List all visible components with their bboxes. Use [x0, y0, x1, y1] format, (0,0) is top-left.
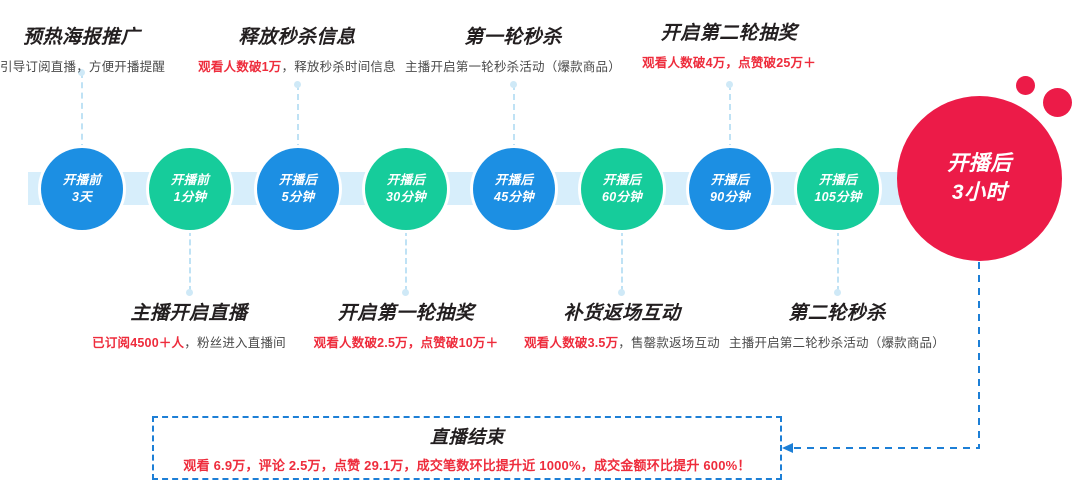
- label-subtitle-highlight: 观看人数破1万: [198, 60, 281, 74]
- label-top-4: 开启第二轮抽奖 观看人数破4万，点赞破25万＋: [611, 18, 847, 71]
- connector-line-top-3: [513, 84, 515, 150]
- connector-dot-top-3: [510, 81, 517, 88]
- label-bottom-1: 主播开启直播 已订阅4500＋人，粉丝进入直播间: [85, 298, 293, 351]
- label-subtitle: 引导订阅直播，方便开播提醒: [0, 56, 163, 75]
- connector-line-top-1: [81, 72, 83, 150]
- label-subtitle-highlight: 已订阅4500＋人: [92, 336, 184, 350]
- summary-box: 直播结束 观看 6.9万，评论 2.5万，点赞 29.1万，成交笔数环比提升近 …: [152, 416, 782, 480]
- timeline-node-3[interactable]: 开播后 5分钟: [257, 148, 339, 230]
- timeline-node-final[interactable]: 开播后 3小时: [897, 96, 1062, 261]
- label-title: 开启第一轮抽奖: [300, 298, 512, 325]
- connector-dot-bottom-2: [402, 289, 409, 296]
- node-line-2: 60分钟: [602, 189, 642, 206]
- label-bottom-3: 补货返场互动 观看人数破3.5万，售罄款返场互动: [516, 298, 728, 351]
- summary-text: 观看 6.9万，评论 2.5万，点赞 29.1万，成交笔数环比提升近 1000%…: [183, 455, 750, 474]
- connector-line-top-4: [729, 84, 731, 150]
- node-line-2: 90分钟: [710, 189, 750, 206]
- node-line-1: 开播后: [819, 172, 857, 189]
- label-subtitle: 主播开启第一轮秒杀活动（爆款商品）: [393, 56, 633, 75]
- node-line-1: 开播后: [603, 172, 641, 189]
- label-title: 第一轮秒杀: [393, 22, 633, 49]
- label-subtitle-highlight: 观看人数破2.5万，点赞破10万＋: [314, 336, 499, 350]
- connector-line-bottom-4: [837, 230, 839, 292]
- connector-dot-bottom-3: [618, 289, 625, 296]
- label-subtitle: 已订阅4500＋人，粉丝进入直播间: [85, 332, 293, 351]
- timeline-node-1[interactable]: 开播前 3天: [41, 148, 123, 230]
- node-line-1: 开播后: [495, 172, 533, 189]
- label-subtitle: 观看人数破1万，释放秒杀时间信息: [182, 56, 412, 75]
- connector-dot-top-2: [294, 81, 301, 88]
- label-subtitle-plain: 主播开启第二轮秒杀活动（爆款商品）: [729, 336, 945, 350]
- label-subtitle-plain: ，释放秒杀时间信息: [282, 60, 396, 74]
- node-line-2: 3天: [72, 189, 92, 206]
- label-bottom-2: 开启第一轮抽奖 观看人数破2.5万，点赞破10万＋: [300, 298, 512, 351]
- timeline-node-8[interactable]: 开播后 105分钟: [797, 148, 879, 230]
- label-subtitle: 观看人数破3.5万，售罄款返场互动: [516, 332, 728, 351]
- node-line-1: 开播后: [947, 150, 1012, 178]
- label-bottom-4: 第二轮秒杀 主播开启第二轮秒杀活动（爆款商品）: [719, 298, 955, 351]
- node-line-1: 开播前: [171, 172, 209, 189]
- timeline-infographic: 预热海报推广 引导订阅直播，方便开播提醒 释放秒杀信息 观看人数破1万，释放秒杀…: [0, 0, 1080, 499]
- label-title: 主播开启直播: [85, 298, 293, 325]
- label-subtitle-highlight: 观看人数破3.5万: [524, 336, 618, 350]
- summary-title: 直播结束: [430, 423, 504, 449]
- label-top-2: 释放秒杀信息 观看人数破1万，释放秒杀时间信息: [182, 22, 412, 75]
- decorative-dot-small-icon: [1016, 76, 1035, 95]
- label-subtitle: 主播开启第二轮秒杀活动（爆款商品）: [719, 332, 955, 351]
- timeline-node-7[interactable]: 开播后 90分钟: [689, 148, 771, 230]
- node-line-2: 5分钟: [282, 189, 315, 206]
- node-line-1: 开播后: [279, 172, 317, 189]
- label-title: 补货返场互动: [516, 298, 728, 325]
- connector-line-bottom-2: [405, 230, 407, 292]
- node-line-1: 开播后: [387, 172, 425, 189]
- label-title: 释放秒杀信息: [182, 22, 412, 49]
- timeline-node-4[interactable]: 开播后 30分钟: [365, 148, 447, 230]
- label-subtitle-plain: ，售罄款返场互动: [618, 336, 720, 350]
- label-title: 第二轮秒杀: [719, 298, 955, 325]
- node-line-1: 开播前: [63, 172, 101, 189]
- node-line-2: 3小时: [952, 179, 1007, 207]
- label-top-1: 预热海报推广 引导订阅直播，方便开播提醒: [0, 22, 163, 75]
- connector-line-bottom-1: [189, 230, 191, 292]
- connector-dot-bottom-4: [834, 289, 841, 296]
- connector-dot-top-4: [726, 81, 733, 88]
- label-subtitle-plain: ，粉丝进入直播间: [184, 336, 286, 350]
- node-line-2: 45分钟: [494, 189, 534, 206]
- label-subtitle-plain: 主播开启第一轮秒杀活动（爆款商品）: [405, 60, 621, 74]
- label-subtitle-plain: 引导订阅直播，方便开播提醒: [0, 60, 165, 74]
- connector-line-bottom-3: [621, 230, 623, 292]
- node-line-1: 开播后: [711, 172, 749, 189]
- label-subtitle-highlight: 观看人数破4万，点赞破25万＋: [642, 56, 816, 70]
- label-title: 开启第二轮抽奖: [611, 18, 847, 45]
- node-line-2: 105分钟: [814, 189, 861, 206]
- label-subtitle: 观看人数破4万，点赞破25万＋: [611, 52, 847, 71]
- connector-dot-bottom-1: [186, 289, 193, 296]
- node-line-2: 30分钟: [386, 189, 426, 206]
- label-title: 预热海报推广: [0, 22, 163, 49]
- node-line-2: 1分钟: [174, 189, 207, 206]
- connector-line-top-2: [297, 84, 299, 150]
- timeline-node-6[interactable]: 开播后 60分钟: [581, 148, 663, 230]
- label-top-3: 第一轮秒杀 主播开启第一轮秒杀活动（爆款商品）: [393, 22, 633, 75]
- label-subtitle: 观看人数破2.5万，点赞破10万＋: [300, 332, 512, 351]
- decorative-dot-medium-icon: [1043, 88, 1072, 117]
- timeline-node-5[interactable]: 开播后 45分钟: [473, 148, 555, 230]
- timeline-node-2[interactable]: 开播前 1分钟: [149, 148, 231, 230]
